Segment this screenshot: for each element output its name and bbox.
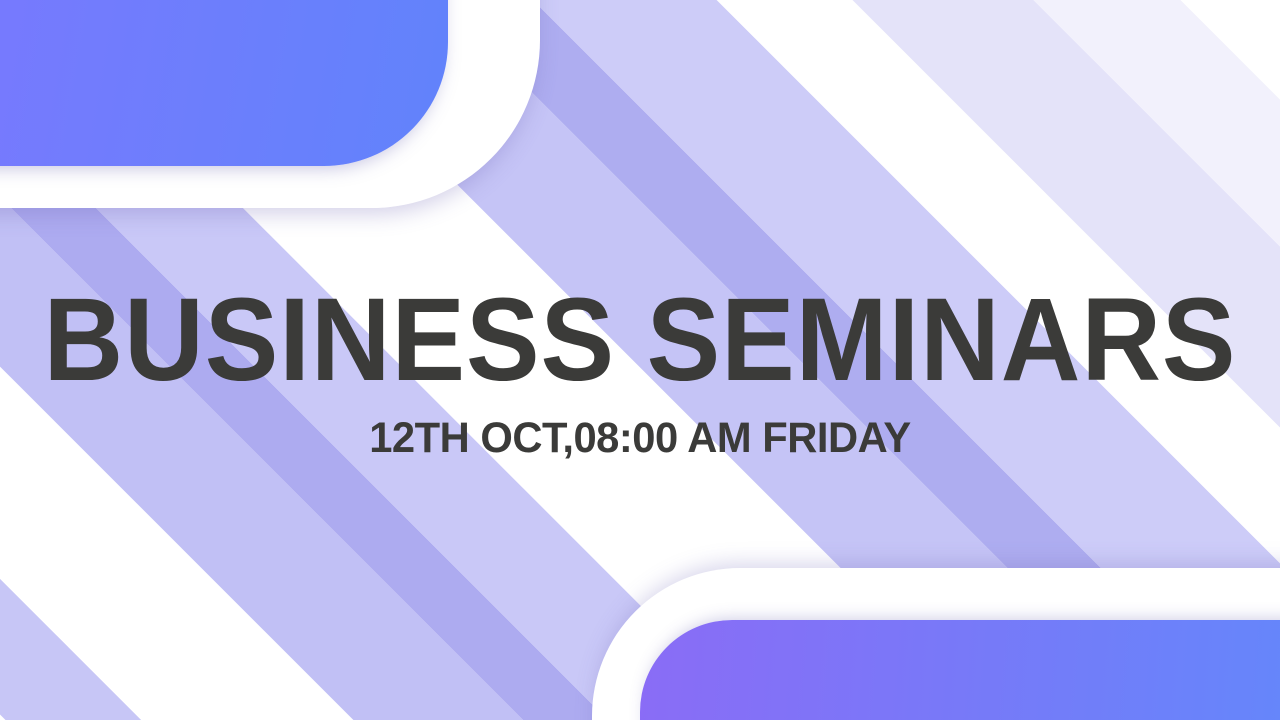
poster-text-block: BUSINESS SEMINARS 12TH OCT,08:00 AM FRID… — [0, 286, 1280, 460]
bottom-right-gradient-panel — [640, 620, 1280, 720]
event-datetime: 12TH OCT,08:00 AM FRIDAY — [19, 417, 1261, 460]
page-title: BUSINESS SEMINARS — [42, 286, 1239, 395]
poster-canvas: BUSINESS SEMINARS 12TH OCT,08:00 AM FRID… — [0, 0, 1280, 720]
top-left-gradient-panel — [0, 0, 448, 166]
